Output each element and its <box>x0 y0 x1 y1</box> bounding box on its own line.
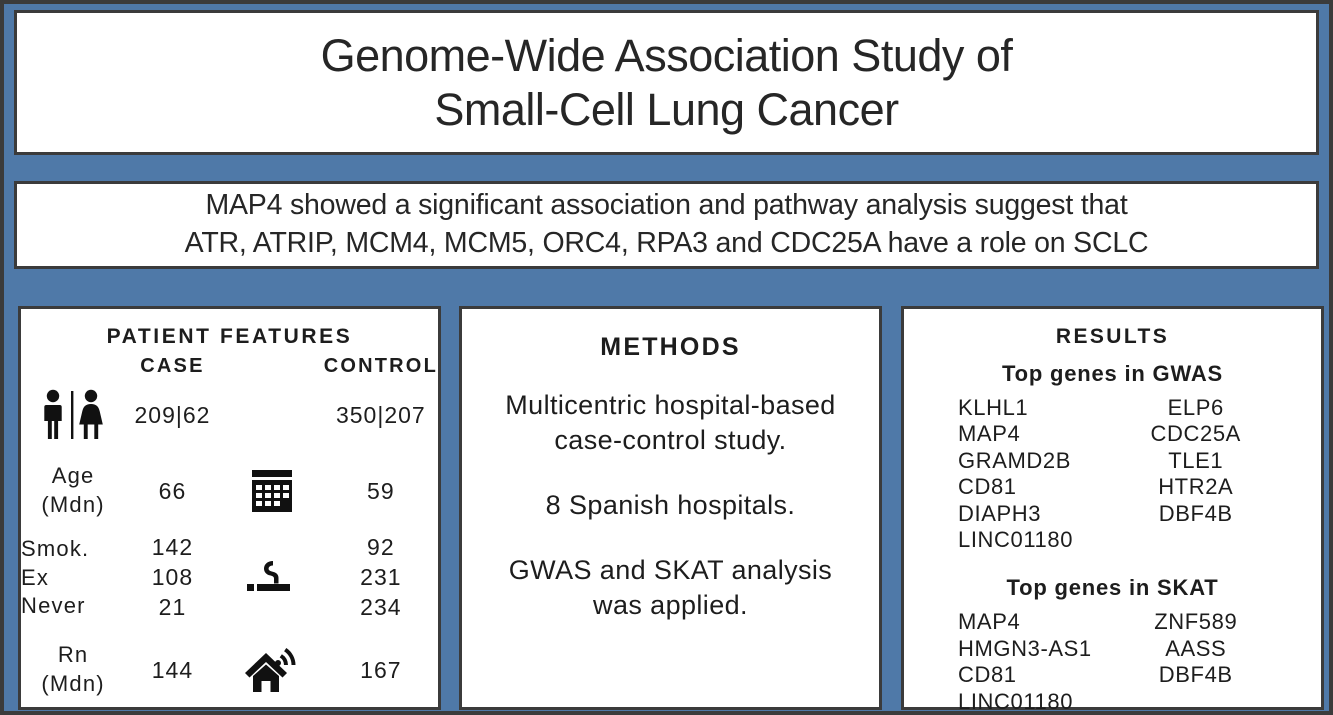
list-item: TLE1 <box>1117 448 1276 474</box>
smoking-control-smoker: 92 <box>324 533 438 563</box>
calendar-icon <box>220 469 324 513</box>
methods-body: Multicentric hospital-based case-control… <box>462 388 879 623</box>
smoking-label-ex: Ex <box>21 564 125 593</box>
smoking-control-values: 92 231 234 <box>324 530 438 626</box>
skat-gene-column-right: ZNF589 AASS DBF4B <box>1117 609 1276 715</box>
results-heading: RESULTS <box>904 325 1321 349</box>
methods-paragraph-3: GWAS and SKAT analysis was applied. <box>488 553 853 623</box>
smoking-label-cell: Smok. Ex Never <box>21 530 125 626</box>
list-item: MAP4 <box>958 609 1117 635</box>
list-item: DBF4B <box>1117 501 1276 527</box>
smoking-case-values: 142 108 21 <box>125 530 220 626</box>
list-item: CD81 <box>958 474 1117 500</box>
skat-gene-column-left: MAP4 HMGN3-AS1 CD81 LINC01180 <box>958 609 1117 715</box>
list-item: DIAPH3 <box>958 501 1117 527</box>
header-icon-spacer <box>220 355 324 378</box>
list-item: GRAMD2B <box>958 448 1117 474</box>
column-header-control: CONTROL <box>324 355 438 378</box>
list-item: CD81 <box>958 662 1117 688</box>
list-item: ELP6 <box>1117 395 1276 421</box>
list-item: LINC01180 <box>958 527 1117 553</box>
smoking-case-smoker: 142 <box>125 533 220 563</box>
gwas-gene-grid: KLHL1 MAP4 GRAMD2B CD81 DIAPH3 LINC01180… <box>904 395 1321 553</box>
radon-label-cell: Rn (Mdn) <box>21 626 125 714</box>
smoking-case-ex: 108 <box>125 563 220 593</box>
title-line-1: Genome-Wide Association Study of <box>321 29 1013 82</box>
smoking-control-never: 234 <box>324 593 438 623</box>
table-row-radon: Rn (Mdn) 144 <box>21 626 438 714</box>
radon-label: Rn <box>21 641 125 670</box>
gender-icon-cell <box>21 378 125 452</box>
panel-patient-features: PATIENT FEATURES CASE CONTROL <box>18 306 441 710</box>
table-row-gender: 209|62 350|207 <box>21 378 438 452</box>
smoking-case-never: 21 <box>125 593 220 623</box>
table-row-smoking: Smok. Ex Never 142 108 21 <box>21 530 438 626</box>
gender-case-value: 209|62 <box>125 378 220 452</box>
age-icon-cell <box>220 452 324 530</box>
cigarette-icon <box>220 558 324 598</box>
title-line-2: Small-Cell Lung Cancer <box>321 83 1013 136</box>
page-title: Genome-Wide Association Study of Small-C… <box>301 29 1033 135</box>
list-item: CDC25A <box>1117 421 1276 447</box>
panel-results: RESULTS Top genes in GWAS KLHL1 MAP4 GRA… <box>901 306 1324 710</box>
age-control-value: 59 <box>324 452 438 530</box>
smoking-control-ex: 231 <box>324 563 438 593</box>
radon-label-sub: (Mdn) <box>21 670 125 699</box>
list-item: MAP4 <box>958 421 1117 447</box>
age-label-sub: (Mdn) <box>21 491 125 520</box>
list-item: HMGN3-AS1 <box>958 636 1117 662</box>
gwas-gene-column-left: KLHL1 MAP4 GRAMD2B CD81 DIAPH3 LINC01180 <box>958 395 1117 553</box>
smoking-label-never: Never <box>21 592 125 621</box>
skat-gene-grid: MAP4 HMGN3-AS1 CD81 LINC01180 ZNF589 AAS… <box>904 609 1321 715</box>
list-item: LINC01180 <box>958 689 1117 715</box>
message-line-2: ATR, ATRIP, MCM4, MCM5, ORC4, RPA3 and C… <box>185 225 1149 263</box>
list-item: KLHL1 <box>958 395 1117 421</box>
gender-control-value: 350|207 <box>324 378 438 452</box>
gender-male-female-icon <box>21 389 125 441</box>
key-message-banner: MAP4 showed a significant association an… <box>14 181 1319 269</box>
radon-control-value: 167 <box>324 626 438 714</box>
radon-icon-cell <box>220 626 324 714</box>
house-radon-icon <box>220 646 324 694</box>
smoking-label-smoker: Smok. <box>21 535 125 564</box>
header-spacer <box>21 355 125 378</box>
list-item: HTR2A <box>1117 474 1276 500</box>
patient-features-heading: PATIENT FEATURES <box>21 325 438 349</box>
message-line-1: MAP4 showed a significant association an… <box>185 187 1149 225</box>
list-item: ZNF589 <box>1117 609 1276 635</box>
gwas-subheading: Top genes in GWAS <box>904 361 1321 387</box>
age-label: Age <box>21 462 125 491</box>
gender-row-icon-spacer <box>220 378 324 452</box>
smoking-icon-cell <box>220 530 324 626</box>
age-case-value: 66 <box>125 452 220 530</box>
key-message-text: MAP4 showed a significant association an… <box>185 187 1149 262</box>
methods-heading: METHODS <box>462 333 879 362</box>
skat-subheading: Top genes in SKAT <box>904 575 1321 601</box>
patient-features-table: CASE CONTROL <box>21 355 438 714</box>
list-item: DBF4B <box>1117 662 1276 688</box>
column-header-case: CASE <box>125 355 220 378</box>
table-header-row: CASE CONTROL <box>21 355 438 378</box>
methods-paragraph-2: 8 Spanish hospitals. <box>488 488 853 523</box>
age-label-cell: Age (Mdn) <box>21 452 125 530</box>
panel-methods: METHODS Multicentric hospital-based case… <box>459 306 882 710</box>
title-banner: Genome-Wide Association Study of Small-C… <box>14 10 1319 155</box>
gwas-gene-column-right: ELP6 CDC25A TLE1 HTR2A DBF4B <box>1117 395 1276 553</box>
table-row-age: Age (Mdn) 66 <box>21 452 438 530</box>
graphical-abstract-poster: Genome-Wide Association Study of Small-C… <box>0 0 1333 715</box>
methods-paragraph-1: Multicentric hospital-based case-control… <box>488 388 853 458</box>
list-item: AASS <box>1117 636 1276 662</box>
radon-case-value: 144 <box>125 626 220 714</box>
